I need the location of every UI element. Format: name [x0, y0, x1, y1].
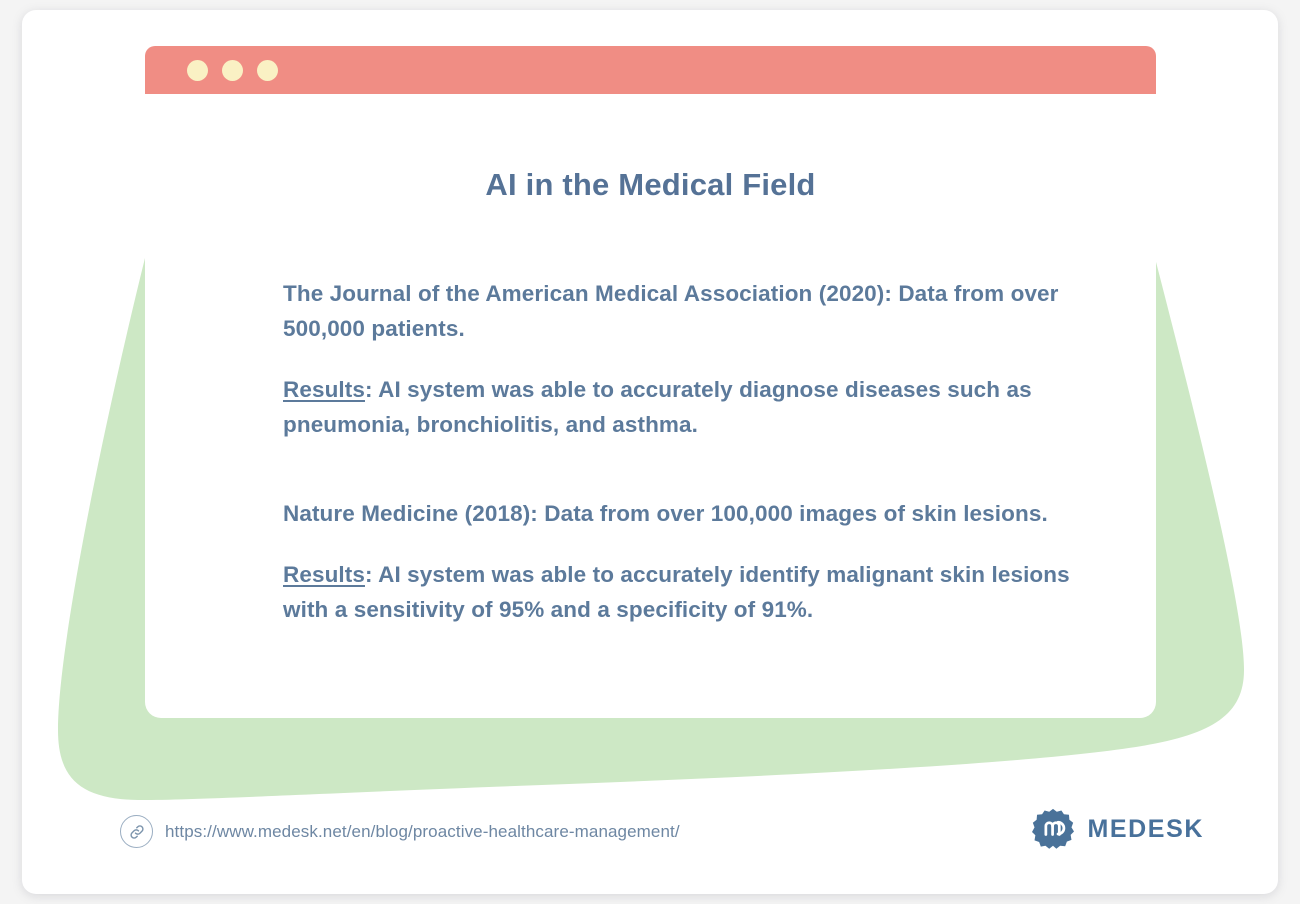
page-title: AI in the Medical Field	[145, 167, 1156, 203]
study-block-1: The Journal of the American Medical Asso…	[283, 276, 1073, 442]
results-label-2: Results	[283, 562, 365, 587]
study-source-2: Nature Medicine (2018): Data from over 1…	[283, 496, 1073, 531]
study-results-2: Results: AI system was able to accuratel…	[283, 557, 1073, 627]
brand-logo: MEDESK	[1032, 808, 1204, 850]
results-text-2: : AI system was able to accurately ident…	[283, 562, 1070, 622]
window-dot-maximize[interactable]	[257, 60, 278, 81]
brand-name-text: MEDESK	[1087, 815, 1204, 844]
study-source-1: The Journal of the American Medical Asso…	[283, 276, 1073, 346]
results-text-1: : AI system was able to accurately diagn…	[283, 377, 1032, 437]
footer-source-link[interactable]: https://www.medesk.net/en/blog/proactive…	[120, 815, 680, 848]
medesk-logo-icon	[1032, 808, 1074, 850]
study-block-2: Nature Medicine (2018): Data from over 1…	[283, 496, 1073, 627]
window-dot-close[interactable]	[187, 60, 208, 81]
slide-root: AI in the Medical Field The Journal of t…	[0, 0, 1300, 904]
content-card: AI in the Medical Field The Journal of t…	[145, 94, 1156, 718]
slide-card: AI in the Medical Field The Journal of t…	[22, 10, 1278, 894]
browser-chrome-bar	[145, 46, 1156, 94]
study-results-1: Results: AI system was able to accuratel…	[283, 372, 1073, 442]
link-chain-icon	[120, 815, 153, 848]
window-dot-minimize[interactable]	[222, 60, 243, 81]
window-control-dots	[187, 60, 278, 81]
footer-url-text: https://www.medesk.net/en/blog/proactive…	[165, 822, 680, 842]
results-label-1: Results	[283, 377, 365, 402]
